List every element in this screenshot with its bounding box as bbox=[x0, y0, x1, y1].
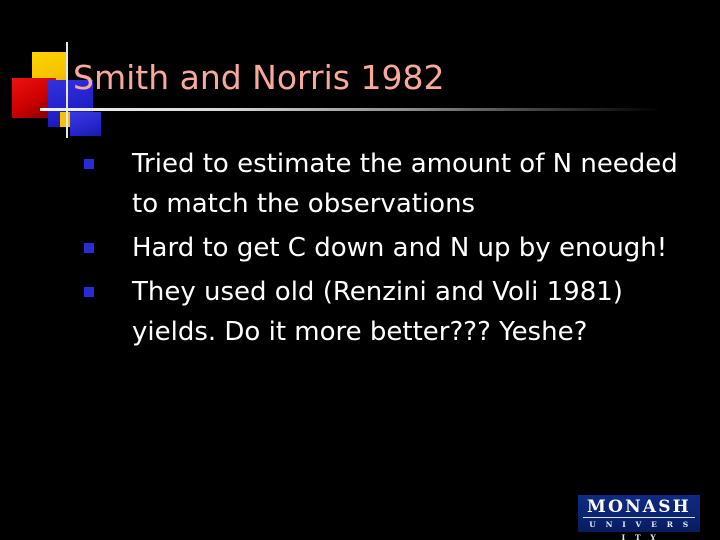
decoration-square-blue-small bbox=[70, 112, 101, 136]
monash-university-logo: MONASH U N I V E R S I T Y bbox=[578, 495, 700, 532]
bullet-text: Tried to estimate the amount of N needed… bbox=[132, 144, 699, 224]
bullet-text: Hard to get C down and N up by enough! bbox=[132, 228, 699, 268]
decoration-vertical-line bbox=[66, 42, 68, 138]
bullet-item: They used old (Renzini and Voli 1981) yi… bbox=[84, 272, 699, 352]
bullet-square-icon bbox=[84, 287, 94, 297]
presentation-slide: Smith and Norris 1982 Tried to estimate … bbox=[0, 0, 720, 540]
bullet-item: Hard to get C down and N up by enough! bbox=[84, 228, 699, 268]
decoration-square-yellow-small bbox=[60, 112, 72, 127]
decoration-square-yellow bbox=[32, 52, 67, 90]
bullet-text: They used old (Renzini and Voli 1981) yi… bbox=[132, 272, 699, 352]
title-divider-rule bbox=[40, 108, 680, 111]
decoration-square-red bbox=[12, 78, 56, 118]
logo-subword: U N I V E R S I T Y bbox=[583, 518, 695, 540]
bullet-item: Tried to estimate the amount of N needed… bbox=[84, 144, 699, 224]
bullet-square-icon bbox=[84, 243, 94, 253]
slide-title: Smith and Norris 1982 bbox=[73, 57, 693, 99]
bullet-square-icon bbox=[84, 159, 94, 169]
slide-body: Tried to estimate the amount of N needed… bbox=[84, 144, 699, 356]
logo-wordmark: MONASH bbox=[583, 498, 695, 518]
